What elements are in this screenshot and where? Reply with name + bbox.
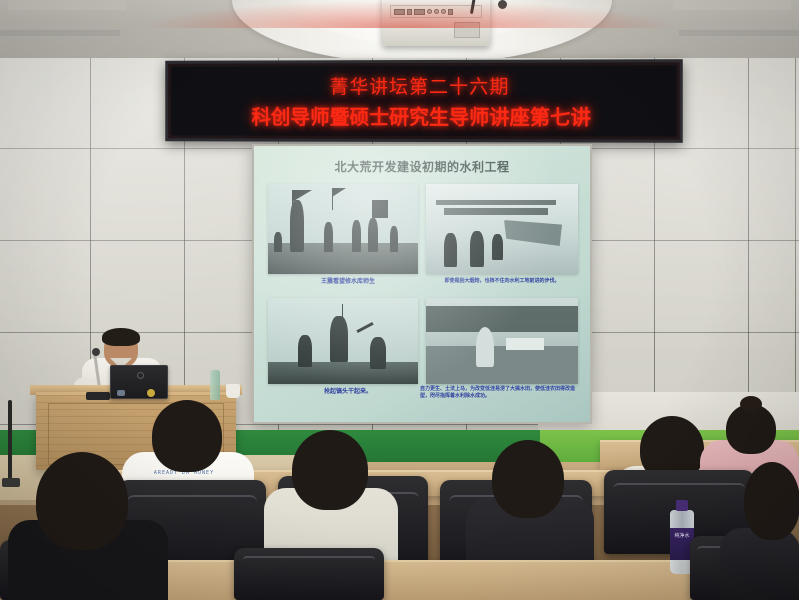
slide-title: 北大荒开发建设初期的水利工程 [254,158,590,175]
photo-worker-left [298,335,312,367]
attendee-torso [720,528,799,600]
photo-worker-right [370,337,386,369]
led-banner-line-1: 菁华讲坛第二十六期 [330,72,510,99]
speaker-hair [102,328,140,346]
laptop-logo [137,372,144,379]
slide-photo-snow-march [426,184,578,274]
chair-headrest-seam [127,495,257,508]
attendee-head [492,440,564,518]
photo-figure-6 [274,232,282,252]
photo-foreground-worker [476,327,494,367]
ceiling-slot-left [0,30,120,36]
photo-crowd-band [426,306,578,332]
laptop [110,365,168,399]
chair-headrest-seam [613,483,745,495]
photo-marcher-3 [492,234,503,260]
photo-marcher-2 [470,231,484,267]
microphone-base [86,392,110,400]
slide-caption-top-left: 王震看望修水库师生 [288,278,408,286]
microphone-head [92,348,100,356]
photo-figure-5 [390,226,398,252]
photo-figure-3 [352,220,361,252]
slide-caption-top-right: 即使是刮大烟炮，也挡不住向水利工地前进的步伐。 [422,278,582,285]
photo-figure-2 [324,222,333,252]
led-banner-line-2: 科创导师暨硕士研究生导师讲座第七讲 [251,101,591,130]
bottle-label-text: 纯净水 [670,534,694,540]
slide-photo-water-crowd [426,298,578,384]
slide-caption-bottom-left: 抢起镐头干起来。 [288,388,408,396]
ceiling-vent-right [673,0,791,10]
led-red-spill-glow [140,0,680,28]
lecture-hall-photo: 菁华讲坛第二十六期 科创导师暨硕士研究生导师讲座第七讲 北大荒开发建设初期的水利… [0,0,799,600]
attendee-head [152,400,222,472]
photo-marcher-1 [444,233,457,267]
photo-figure-4 [368,218,378,252]
laptop-sticker-gold [147,389,155,397]
photo-water-area [426,346,578,384]
slide-caption-bottom-right: 自力更生、土法上马，为改变低洼易涝了大搞水田，使低洼农田得改造型，咫尽指挥着水利… [420,386,580,400]
photo-flag-3 [372,200,388,218]
attendee-hair-bun [740,396,762,412]
laptop-sticker-blue [117,390,125,396]
photo-figure-1 [290,200,304,252]
photo-worker-center [330,316,348,362]
attendee-head [36,452,128,550]
projection-screen-frame: 北大荒开发建设初期的水利工程 [252,144,592,424]
projection-screen: 北大荒开发建设初期的水利工程 [254,146,590,422]
floor-cable-connector [2,478,20,487]
podium-paper-cup [226,384,240,398]
photo-embankment [506,338,544,350]
attendee-head [292,430,368,510]
led-banner-screen: 菁华讲坛第二十六期 科创导师暨硕士研究生导师讲座第七讲 [171,65,676,136]
photo-pickaxe-1 [342,304,343,326]
led-banner: 菁华讲坛第二十六期 科创导师暨硕士研究生导师讲座第七讲 [165,59,682,143]
slide-photo-flag-rally [268,184,418,274]
ceiling-vent-left [8,0,126,10]
slide-photo-pickaxe-workers [268,298,418,384]
photo-column-far [436,200,556,205]
ceiling-slot-right [679,30,799,36]
photo-column-mid [444,208,548,215]
chair [234,548,384,600]
attendee-head [744,462,799,540]
photo-rubble [268,362,418,384]
chair-headrest-seam [243,556,375,563]
podium-water-bottle [210,370,220,400]
bottle-cap [676,500,688,511]
floor-cable [8,400,12,480]
